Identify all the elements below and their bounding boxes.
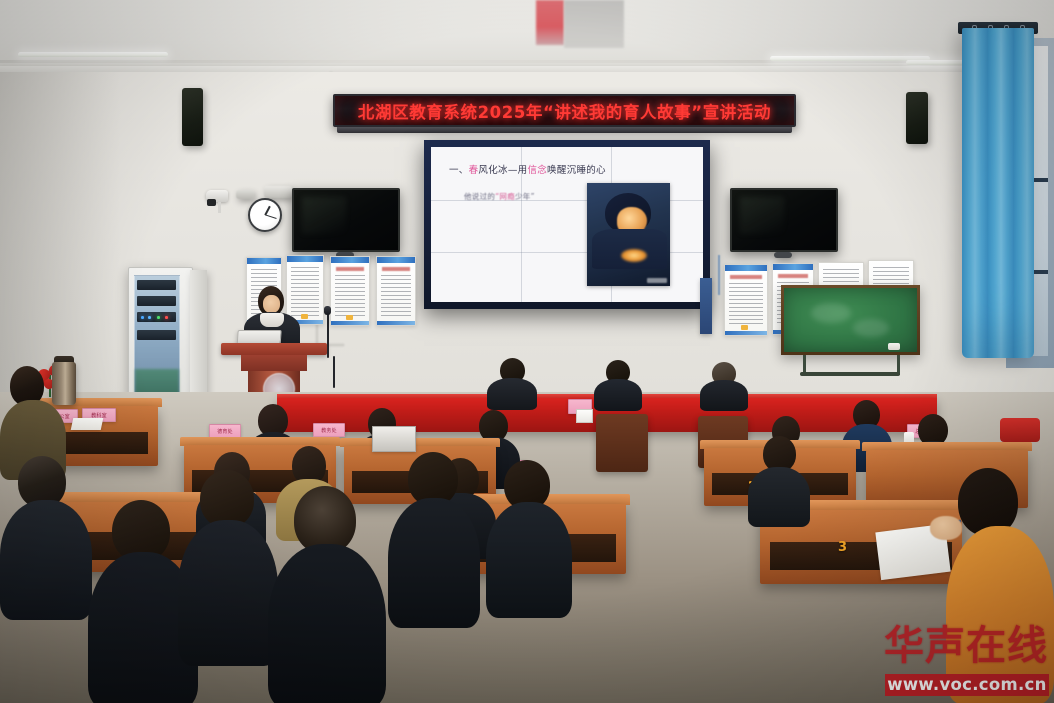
attendee-foreground <box>178 470 278 660</box>
ceiling-red-panel <box>536 0 564 45</box>
poster-text-lines <box>729 283 763 327</box>
poster-header-band <box>247 258 281 264</box>
poster-header-band <box>773 264 813 270</box>
official-shoulders <box>700 380 748 411</box>
watermark-logo: 华声在线 <box>884 618 1050 674</box>
presenter-collar <box>260 313 284 327</box>
podium-mic-head <box>324 306 331 315</box>
window-curtain[interactable] <box>962 28 1034 358</box>
desk-namecard-text: 教务处 <box>321 427 337 434</box>
rack-led-red <box>165 316 168 319</box>
projection-screen[interactable]: 一、春风化冰—用信念唤醒沉睡的心 他说过的“网瘾少年” <box>431 147 703 302</box>
wall-speaker-left <box>182 88 203 146</box>
conference-photo: 北湖区教育系统2025年“讲述我的育人故事”宣讲活动 一、春风化冰—用信念唤醒沉… <box>0 0 1054 703</box>
ceiling-light-tube-left <box>18 52 168 57</box>
chalkboard-eraser <box>888 343 900 350</box>
poster-title-line <box>336 267 364 271</box>
rack-led-blue <box>148 316 151 319</box>
wall-poster <box>376 256 416 326</box>
attendee-foreground <box>388 452 480 622</box>
official-seated <box>487 358 537 408</box>
camera-mount-arm <box>218 202 221 213</box>
stage-paper <box>576 409 593 423</box>
podium-neck <box>241 355 307 371</box>
chalk-smudge <box>811 303 851 323</box>
wall-cable-right <box>718 255 720 295</box>
poster-header-band <box>377 257 415 263</box>
wall-shadow <box>0 72 120 402</box>
event-banner: 北湖区教育系统2025年“讲述我的育人故事”宣讲活动 <box>333 94 796 127</box>
presenter-face <box>263 295 280 313</box>
poster-marker <box>346 315 353 320</box>
chalkboard-foot-rail <box>800 372 900 376</box>
banner-frame <box>337 127 792 133</box>
watermark: 华声在线 www.voc.com.cn <box>884 618 1050 698</box>
note-taker-hand <box>930 516 962 540</box>
attendee <box>748 436 810 524</box>
attendee-shoulders <box>268 544 386 703</box>
slide-photo-boy-reading <box>587 183 670 286</box>
poster-footer-band <box>377 321 415 325</box>
slide-title: 一、春风化冰—用信念唤醒沉睡的心 <box>449 162 606 176</box>
wall-sensor-box <box>264 186 292 198</box>
slide-title-accent-1: 春 <box>469 165 479 176</box>
tv-right-mount <box>774 252 792 258</box>
wall-poster <box>724 264 768 336</box>
official-shoulders <box>594 379 642 411</box>
laptop-on-desk[interactable] <box>372 426 416 452</box>
poster-header-band <box>287 256 323 262</box>
attendee-foreground <box>0 456 92 616</box>
poster-marker <box>741 325 748 330</box>
poster-marker <box>301 314 308 319</box>
rack-unit <box>137 280 176 290</box>
floor-mic-stem <box>333 356 335 388</box>
rack-unit <box>137 330 176 340</box>
slide-title-body-2: 唤醒沉睡的心 <box>547 165 606 176</box>
desk-number-label: 3 <box>838 540 847 555</box>
tv-right[interactable] <box>730 188 838 252</box>
poster-text-lines <box>335 275 365 317</box>
watermark-url: www.voc.com.cn <box>885 674 1049 696</box>
rack-led-green <box>157 316 160 319</box>
ceiling-gray-panel <box>564 0 624 48</box>
official-seated <box>594 360 642 410</box>
desk-namecard: 教务处 <box>313 423 345 437</box>
attendee-shoulders <box>486 502 572 618</box>
slide-subtitle-body-2: 少年” <box>515 192 535 201</box>
poster-title-line <box>382 267 410 271</box>
slide-photo-lamp-glow <box>621 249 647 262</box>
poster-text-lines <box>381 275 411 317</box>
poster-title-line <box>730 275 762 279</box>
wall-speaker-right <box>906 92 928 144</box>
wall-poster <box>330 256 370 326</box>
slide-title-body-1: 风化冰—用 <box>478 165 527 176</box>
slide-title-highlight: 信念 <box>527 165 547 176</box>
attendee-shoulders <box>748 467 810 527</box>
attendee-foreground <box>486 460 572 612</box>
chair[interactable] <box>596 414 648 472</box>
podium-top <box>221 343 327 355</box>
projection-screen-bezel: 一、春风化冰—用信念唤醒沉睡的心 他说过的“网瘾少年” <box>424 140 710 309</box>
tv-left[interactable] <box>292 188 400 252</box>
podium-mic-stem <box>327 312 329 358</box>
desk-namecard-text: 德育处 <box>217 428 233 435</box>
wall-clock <box>248 198 282 232</box>
slide-photo-watermark <box>647 278 667 283</box>
slide-title-prefix: 一、 <box>449 165 469 176</box>
attendee-shoulders <box>0 500 92 620</box>
poster-footer-band <box>331 321 369 325</box>
poster-header-band <box>725 265 767 271</box>
slide-subtitle: 他说过的“网瘾少年” <box>464 191 535 202</box>
chalk-smudge <box>853 319 889 337</box>
desk-namecard: 德育处 <box>209 424 241 438</box>
poster-title-line <box>778 274 808 278</box>
official-shoulders <box>487 378 537 410</box>
official-seated <box>700 362 748 410</box>
rack-unit <box>137 296 176 306</box>
slide-subtitle-body-1: 他说过的 <box>464 192 495 201</box>
attendee-shoulders <box>388 498 480 628</box>
wall-junction-box <box>236 190 254 199</box>
rack-led-blue <box>141 316 144 319</box>
slide-subtitle-highlight: “网瘾 <box>495 192 515 201</box>
side-desk-shelf <box>52 432 148 454</box>
poster-header-band <box>331 257 369 263</box>
surveillance-camera <box>206 190 232 206</box>
attendee-foreground <box>268 486 386 703</box>
wall-blue-panel <box>700 278 712 334</box>
attendee-shoulders <box>178 520 278 666</box>
desk-paper <box>71 418 104 430</box>
event-banner-text: 北湖区教育系统2025年“讲述我的育人故事”宣讲活动 <box>358 99 771 123</box>
poster-footer-band <box>725 331 767 335</box>
camera-lens-icon <box>207 199 216 206</box>
chair-red[interactable] <box>1000 418 1040 442</box>
